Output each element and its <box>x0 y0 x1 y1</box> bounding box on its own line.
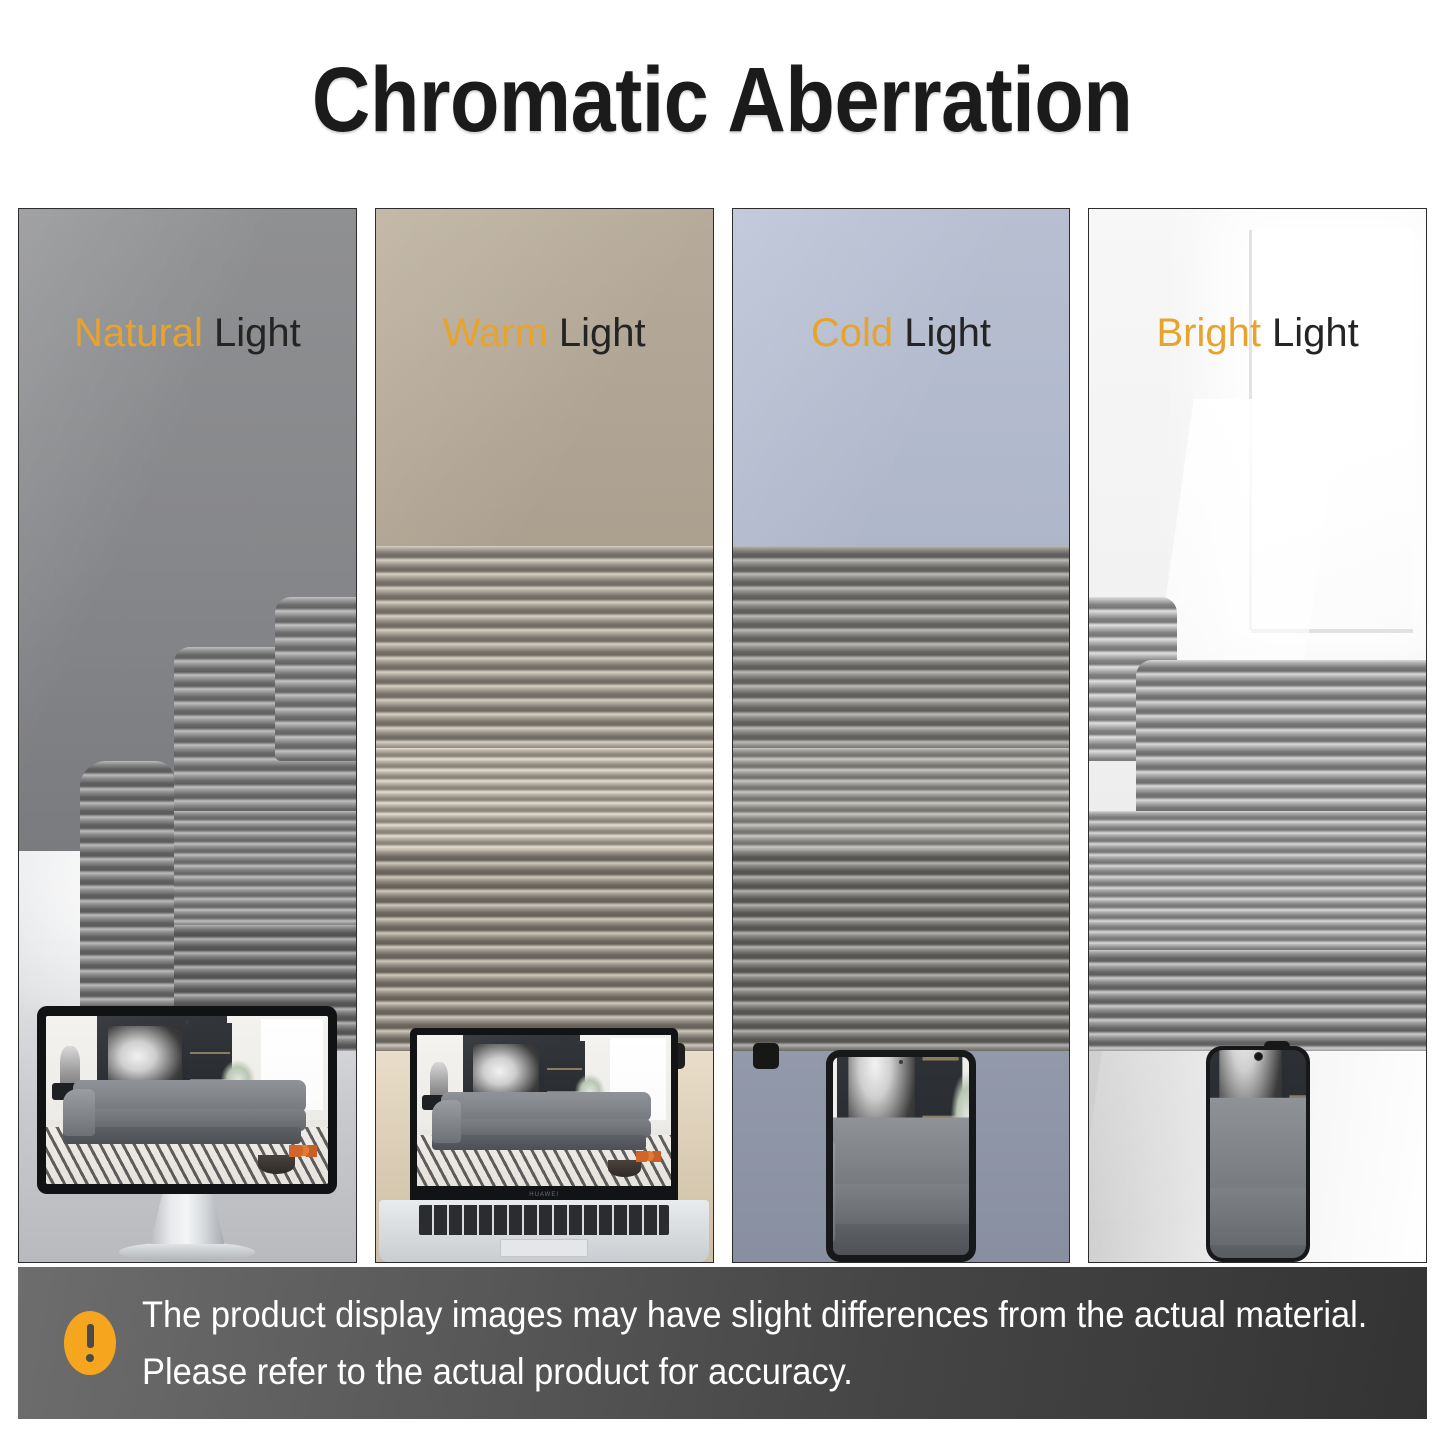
panel-label-keyword: Warm <box>443 311 548 355</box>
sofa-image-cold <box>733 420 1070 1052</box>
sofa-image-bright <box>1089 420 1426 1052</box>
laptop-base <box>379 1200 709 1262</box>
laptop-screen <box>417 1035 671 1186</box>
panel-label-cold: Cold Light <box>733 313 1070 353</box>
laptop-mockup[interactable]: HUAWEI <box>379 1028 709 1262</box>
disclaimer-line-2: Please refer to the actual product for a… <box>142 1343 1367 1400</box>
panel-label-keyword: Natural <box>74 311 203 355</box>
panel-label-keyword: Bright <box>1156 311 1261 355</box>
panel-label-suffix: Light <box>203 311 301 355</box>
panel-warm-light[interactable]: Warm Light <box>375 208 714 1263</box>
device-mockup-zone-warm: HUAWEI <box>376 992 713 1262</box>
laptop-keyboard[interactable] <box>419 1205 669 1235</box>
panel-natural-light[interactable]: Natural Light <box>18 208 357 1263</box>
tablet-screen <box>833 1057 969 1255</box>
laptop-trackpad[interactable] <box>500 1239 588 1257</box>
laptop-lid: HUAWEI <box>410 1028 678 1200</box>
panel-label-warm: Warm Light <box>376 313 713 353</box>
phone-screen <box>1210 1050 1306 1258</box>
lighting-comparison-panels: Natural Light <box>18 208 1427 1263</box>
sofa-seat-cushion <box>375 748 714 862</box>
sofa-back-cushion <box>275 597 357 761</box>
tablet-bezel <box>826 1050 976 1262</box>
panel-label-bright: Bright Light <box>1089 313 1426 353</box>
page-header: Chromatic Aberration <box>0 0 1445 200</box>
monitor-stand-neck <box>150 1194 224 1244</box>
sofa-back-cushion <box>375 546 714 761</box>
panel-label-suffix: Light <box>893 311 991 355</box>
panel-cold-light[interactable]: Cold Light <box>732 208 1071 1263</box>
smartphone-mockup[interactable] <box>1206 1046 1310 1262</box>
sofa-seat-cushion <box>732 748 1071 862</box>
disclaimer-bar: The product display images may have slig… <box>18 1267 1427 1419</box>
sofa-back-cushion <box>732 546 1071 761</box>
disclaimer-text: The product display images may have slig… <box>142 1286 1367 1401</box>
tablet-mockup[interactable] <box>826 1050 976 1262</box>
device-mockup-zone-cold <box>733 992 1070 1262</box>
panel-label-natural: Natural Light <box>19 313 356 353</box>
room-scene-image <box>417 1035 671 1186</box>
room-scene-image <box>833 1057 969 1255</box>
panel-bright-light[interactable]: Bright Light <box>1088 208 1427 1263</box>
sofa-image-natural <box>19 420 356 1052</box>
room-scene-image <box>1210 1050 1306 1258</box>
monitor-screen <box>46 1016 328 1184</box>
panel-label-suffix: Light <box>548 311 646 355</box>
page-title: Chromatic Aberration <box>312 48 1132 153</box>
exclamation-circle-icon <box>64 1311 116 1375</box>
device-mockup-zone-bright <box>1089 992 1426 1262</box>
device-mockup-zone-natural <box>19 992 356 1262</box>
monitor-stand-base <box>119 1242 255 1262</box>
laptop-brand-label: HUAWEI <box>410 1192 678 1198</box>
panel-label-suffix: Light <box>1261 311 1359 355</box>
front-camera-icon <box>899 1060 903 1064</box>
panel-label-keyword: Cold <box>811 311 893 355</box>
disclaimer-line-1: The product display images may have slig… <box>142 1286 1367 1343</box>
phone-bezel <box>1206 1046 1310 1262</box>
sofa-back-cushion <box>1136 660 1427 837</box>
monitor-bezel <box>37 1006 337 1194</box>
desktop-monitor-mockup[interactable] <box>37 1006 337 1262</box>
room-scene-image <box>46 1016 328 1184</box>
sofa-image-warm <box>376 420 713 1052</box>
